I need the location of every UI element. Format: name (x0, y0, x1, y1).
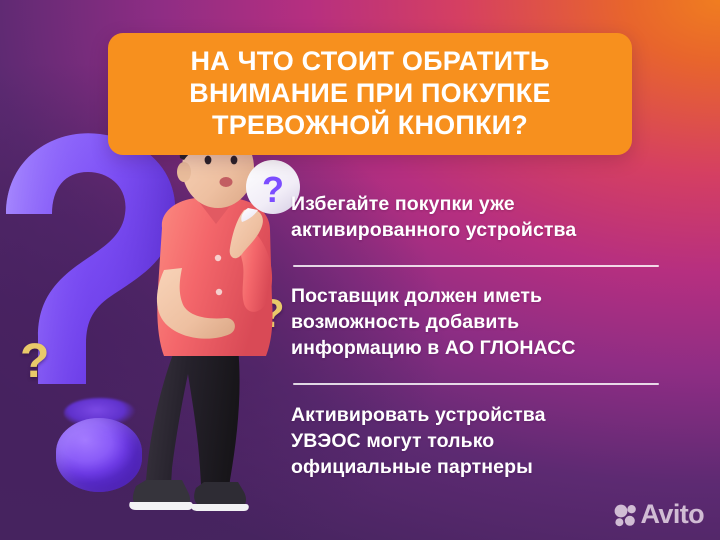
heading-card: НА ЧТО СТОИТ ОБРАТИТЬ ВНИМАНИЕ ПРИ ПОКУП… (108, 33, 632, 155)
avito-dots-icon (613, 503, 637, 527)
page-title: НА ЧТО СТОИТ ОБРАТИТЬ ВНИМАНИЕ ПРИ ПОКУП… (175, 46, 564, 142)
list-item: Поставщик должен иметь возможность добав… (291, 284, 663, 362)
list-divider (293, 383, 659, 385)
avito-watermark: Avito (613, 501, 705, 528)
list-item: Активировать устройства УВЭОС могут толь… (291, 403, 663, 481)
list-item: Избегайте покупки уже активированного ус… (291, 192, 663, 244)
avito-wordmark: Avito (641, 501, 705, 528)
small-question-mark-icon-left: ? (20, 338, 49, 386)
list-divider (293, 265, 659, 267)
promo-poster: ? ? (0, 0, 720, 540)
svg-text:?: ? (262, 169, 284, 210)
